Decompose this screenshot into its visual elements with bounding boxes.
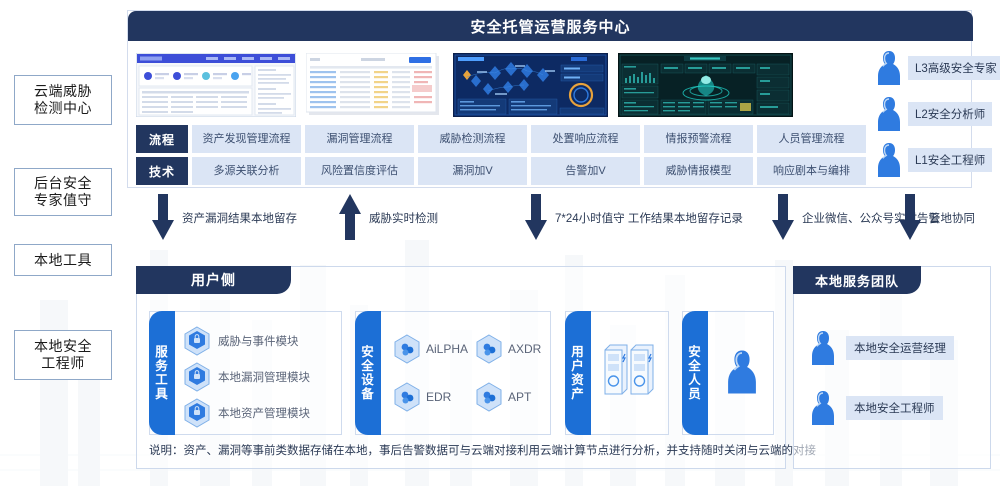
- rail-label-line: 本地安全: [34, 338, 92, 355]
- person-icon: [876, 141, 902, 179]
- thumbnail-vulnerability-list-console[interactable]: [306, 53, 441, 117]
- rail-label-line: 检测中心: [34, 100, 92, 117]
- list-item[interactable]: 威胁与事件模块: [184, 326, 299, 356]
- level-row-l2[interactable]: L2安全分析师: [876, 95, 992, 133]
- rail-label-line: 云端威胁: [34, 83, 92, 100]
- arrow-label-cloud-local-collab: 云地协同: [929, 210, 975, 226]
- arrow-label-7x24-duty: 7*24小时值守 工作结果本地留存记录: [555, 210, 743, 226]
- group-tab-char: 户: [571, 359, 585, 373]
- matrix-cell[interactable]: 风险置信度评估: [305, 157, 414, 185]
- matrix-cell[interactable]: 漏洞管理流程: [305, 125, 414, 153]
- dashboard-thumbnails: [128, 45, 973, 123]
- list-item-label: 本地漏洞管理模块: [218, 369, 310, 385]
- local-service-team-panel: 本地服务团队 本地安全运营经理 本地安全工程师: [793, 266, 991, 469]
- team-member-label: 本地安全工程师: [846, 396, 943, 420]
- arrow-up-threat-realtime: [339, 194, 361, 240]
- user-side-panel-title: 用户侧: [136, 266, 291, 294]
- matrix-cell[interactable]: 人员管理流程: [757, 125, 866, 153]
- rail-label-line: 后台安全: [34, 175, 92, 192]
- level-label: L3高级安全专家: [908, 56, 1000, 80]
- rail-label-line: 工程师: [34, 355, 92, 372]
- arrow-down-cloud-local-collab: [899, 194, 921, 240]
- group-security-devices: 安 全 设 备 AiLPHA: [355, 311, 551, 435]
- group-security-personnel: 安 全 人 员: [682, 311, 774, 435]
- group-tab-user-assets[interactable]: 用 户 资 产: [565, 311, 591, 435]
- team-member-row[interactable]: 本地安全运营经理: [810, 329, 954, 367]
- person-icon: [876, 49, 902, 87]
- matrix-cell[interactable]: 漏洞加V: [418, 157, 527, 185]
- matrix-cell[interactable]: 威胁情报模型: [644, 157, 753, 185]
- panel-note: 说明：资产、漏洞等事前类数据存储在本地，事后告警数据可与云端对接利用云端计算节点…: [149, 442, 816, 458]
- list-item[interactable]: EDR: [394, 382, 451, 412]
- group-tab-security-personnel[interactable]: 安 全 人 员: [682, 311, 708, 435]
- list-item-label: APT: [508, 390, 531, 404]
- list-item-label: AXDR: [508, 342, 541, 356]
- matrix-cell[interactable]: 告警加V: [531, 157, 640, 185]
- level-row-l1[interactable]: L1安全工程师: [876, 141, 992, 179]
- group-tab-char: 工: [155, 373, 169, 387]
- matrix-cell[interactable]: 威胁检测流程: [418, 125, 527, 153]
- list-item[interactable]: APT: [476, 382, 531, 412]
- cube-icon: [476, 382, 502, 412]
- list-item-label: 本地资产管理模块: [218, 405, 310, 421]
- matrix-row-label: 技术: [136, 157, 188, 185]
- server-icon: [602, 340, 630, 402]
- left-rail: 云端威胁 检测中心 后台安全 专家值守 本地工具 本地安全 工程师: [8, 0, 120, 486]
- thumbnail-asset-management-console[interactable]: [136, 53, 296, 117]
- level-row-l3[interactable]: L3高级安全专家: [876, 49, 1000, 87]
- arrow-down-7x24-duty: [525, 194, 547, 240]
- process-technology-matrix: 流程 资产发现管理流程 漏洞管理流程 威胁检测流程 处置响应流程 情报预警流程 …: [136, 125, 866, 189]
- level-label: L1安全工程师: [908, 148, 992, 172]
- group-user-assets: 用 户 资 产: [565, 311, 669, 435]
- matrix-cell[interactable]: 多源关联分析: [192, 157, 301, 185]
- arrow-down-asset-vuln-local: [152, 194, 174, 240]
- group-tab-char: 人: [688, 373, 702, 387]
- matrix-row-process: 流程 资产发现管理流程 漏洞管理流程 威胁检测流程 处置响应流程 情报预警流程 …: [136, 125, 866, 153]
- level-label: L2安全分析师: [908, 102, 992, 126]
- group-tab-char: 资: [571, 373, 585, 387]
- group-tab-char: 安: [361, 345, 375, 359]
- analyst-levels: L3高级安全专家 L2安全分析师 L1安全工程师: [876, 47, 971, 183]
- list-item-label: AiLPHA: [426, 342, 468, 356]
- soc-top-panel: 安全托管运营服务中心: [127, 10, 972, 188]
- group-tab-char: 全: [361, 359, 375, 373]
- cube-icon: [394, 382, 420, 412]
- thumbnail-situational-awareness-dashboard[interactable]: [618, 53, 793, 117]
- person-icon: [725, 348, 759, 396]
- rail-item-local-security-engineer[interactable]: 本地安全 工程师: [14, 330, 112, 380]
- matrix-cell[interactable]: 处置响应流程: [531, 125, 640, 153]
- group-service-tools: 服 务 工 具 威胁与事件模块: [149, 311, 342, 435]
- matrix-row-technology: 技术 多源关联分析 风险置信度评估 漏洞加V 告警加V 威胁情报模型 响应剧本与…: [136, 157, 866, 185]
- group-tab-service-tools[interactable]: 服 务 工 具: [149, 311, 175, 435]
- group-tab-char: 全: [688, 359, 702, 373]
- group-tab-char: 安: [688, 345, 702, 359]
- matrix-cell[interactable]: 响应剧本与编排: [757, 157, 866, 185]
- cube-icon: [394, 334, 420, 364]
- user-side-panel: 用户侧 服 务 工 具 威胁与事件模块: [136, 266, 786, 469]
- group-tab-char: 服: [155, 345, 169, 359]
- cube-icon: [184, 362, 210, 392]
- rail-label-line: 专家值守: [34, 192, 92, 209]
- arrow-down-wechat-alert: [772, 194, 794, 240]
- cube-icon: [476, 334, 502, 364]
- rail-label-line: 本地工具: [34, 252, 92, 269]
- arrow-label-asset-vuln-local: 资产漏洞结果本地留存: [182, 210, 297, 226]
- thumbnail-threat-map-dashboard[interactable]: [453, 53, 608, 117]
- page-title: 安全托管运营服务中心: [128, 11, 973, 41]
- matrix-row-label: 流程: [136, 125, 188, 153]
- group-tab-char: 用: [571, 345, 585, 359]
- group-tab-char: 务: [155, 359, 169, 373]
- list-item[interactable]: 本地资产管理模块: [184, 398, 310, 428]
- group-tab-security-devices[interactable]: 安 全 设 备: [355, 311, 381, 435]
- local-service-team-title: 本地服务团队: [793, 266, 921, 294]
- group-tab-char: 备: [361, 387, 375, 401]
- group-tab-char: 员: [688, 387, 702, 401]
- cube-icon: [184, 326, 210, 356]
- group-tab-char: 设: [361, 373, 375, 387]
- list-item-label: EDR: [426, 390, 451, 404]
- group-tab-char: 产: [571, 387, 585, 401]
- person-icon: [810, 389, 836, 427]
- team-member-row[interactable]: 本地安全工程师: [810, 389, 943, 427]
- rail-item-backend-expert-duty[interactable]: 后台安全 专家值守: [14, 168, 112, 216]
- slide-root: 云端威胁 检测中心 后台安全 专家值守 本地工具 本地安全 工程师 安全托管运营…: [0, 0, 1000, 486]
- list-item-label: 威胁与事件模块: [218, 333, 299, 349]
- cube-icon: [184, 398, 210, 428]
- server-icon: [628, 340, 656, 402]
- rail-item-cloud-threat-center[interactable]: 云端威胁 检测中心: [14, 75, 112, 125]
- data-flow-arrow-band: 资产漏洞结果本地留存 威胁实时检测 7*24小时值守 工作结果本地留存记录 企业…: [127, 190, 1000, 252]
- team-member-label: 本地安全运营经理: [846, 336, 954, 360]
- group-tab-char: 具: [155, 387, 169, 401]
- matrix-cell[interactable]: 资产发现管理流程: [192, 125, 301, 153]
- person-icon: [810, 329, 836, 367]
- matrix-cell[interactable]: 情报预警流程: [644, 125, 753, 153]
- person-icon: [876, 95, 902, 133]
- rail-item-local-tools[interactable]: 本地工具: [14, 244, 112, 276]
- list-item[interactable]: 本地漏洞管理模块: [184, 362, 310, 392]
- arrow-label-threat-realtime: 威胁实时检测: [369, 210, 438, 226]
- list-item[interactable]: AXDR: [476, 334, 541, 364]
- list-item[interactable]: AiLPHA: [394, 334, 468, 364]
